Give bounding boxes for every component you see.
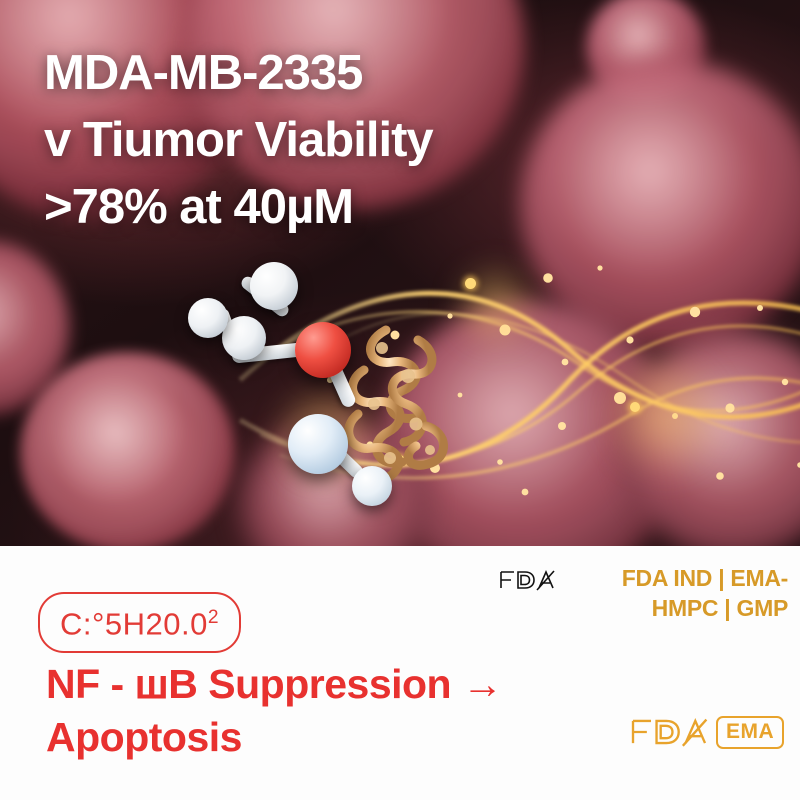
- fda-logo-icon: [498, 567, 556, 593]
- kappa-glyph: ш: [135, 657, 169, 713]
- headline-line-2: v Tiumor Viability: [44, 107, 604, 174]
- poster-canvas: MDA-MB-2335 v Tiumor Viability >78% at 4…: [0, 0, 800, 800]
- atom-nitrogen: [288, 414, 348, 474]
- atom-hydrogen: [250, 262, 298, 310]
- formula-superscript: 2: [208, 607, 219, 628]
- mechanism-statement: NF - шB Suppression → Apoptosis: [46, 658, 566, 764]
- headline-line-1: MDA-MB-2335: [44, 40, 604, 107]
- dna-spark: [630, 402, 640, 412]
- atom-hydrogen: [352, 466, 392, 506]
- fda-logo-gold-icon: [628, 714, 710, 750]
- atom-hydrogen: [188, 298, 228, 338]
- formula-text: C:°5H20.0: [60, 606, 208, 641]
- certification-logos: EMA: [628, 714, 784, 750]
- mechanism-line2: Apoptosis: [46, 711, 566, 764]
- mechanism-line1-post: B Suppression →: [168, 661, 502, 707]
- tumor-cell: [20, 352, 235, 546]
- regulatory-text: FDA IND | EMA-HMPC | GMP: [567, 563, 788, 623]
- dna-spark: [465, 278, 476, 289]
- hero-image: MDA-MB-2335 v Tiumor Viability >78% at 4…: [0, 0, 800, 546]
- mechanism-line1-pre: NF -: [46, 661, 135, 707]
- ema-logo: EMA: [716, 716, 784, 749]
- page-title: MDA-MB-2335 v Tiumor Viability >78% at 4…: [44, 40, 604, 241]
- atom-oxygen: [295, 322, 351, 378]
- chemical-formula-badge: C:°5H20.02: [38, 592, 241, 653]
- headline-line-3: >78% at 40µM: [44, 174, 604, 241]
- dna-glow: [600, 350, 730, 480]
- regulatory-status: FDA IND | EMA-HMPC | GMP: [498, 563, 788, 623]
- atom-hydrogen: [222, 316, 266, 360]
